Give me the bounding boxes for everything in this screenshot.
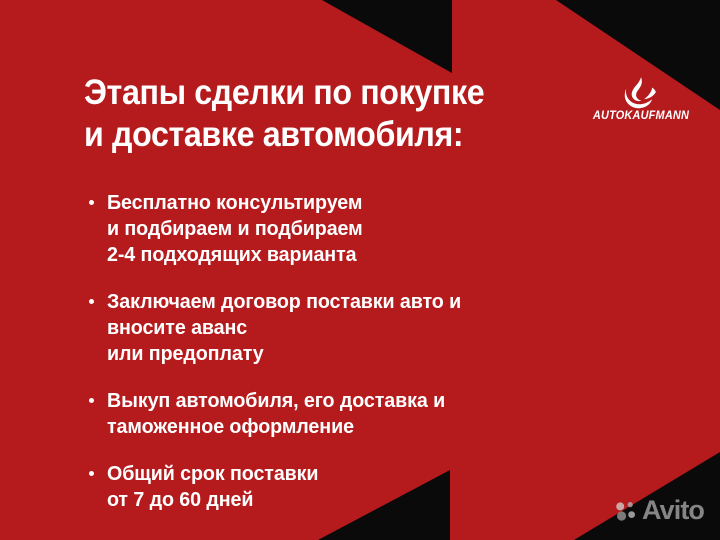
brand-wordmark: AUTOKAUFMANN [587, 110, 695, 122]
avito-dots-icon [615, 501, 637, 521]
list-item: Общий срок поставки от 7 до 60 дней [86, 461, 646, 513]
list-item: Заключаем договор поставки авто и вносит… [86, 289, 646, 367]
list-item-line: вносите аванс [107, 315, 624, 341]
list-item-line: от 7 до 60 дней [107, 487, 624, 513]
avito-wordmark: Avito [642, 497, 704, 524]
banner-image: Этапы сделки по покупке и доставке автом… [0, 0, 720, 540]
bullet-dot-icon [89, 299, 94, 304]
list-item: Выкуп автомобиля, его доставка и таможен… [86, 388, 646, 440]
list-item-line: Выкуп автомобиля, его доставка и [107, 388, 624, 414]
title-line-1: Этапы сделки по покупке [84, 72, 562, 114]
list-item-line: таможенное оформление [107, 414, 624, 440]
bullet-dot-icon [89, 200, 94, 205]
bullet-dot-icon [89, 398, 94, 403]
title-line-2: и доставке автомобиля: [84, 114, 562, 156]
list-item-line: и подбираем и подбираем [107, 216, 624, 242]
list-item-line: Бесплатно консультируем [107, 190, 624, 216]
avito-watermark: Avito [615, 497, 704, 524]
brand-logo: AUTOKAUFMANN [584, 76, 698, 122]
list-item-line: Общий срок поставки [107, 461, 624, 487]
list-item-line: или предоплату [107, 341, 624, 367]
list-item: Бесплатно консультируем и подбираем и по… [86, 190, 646, 268]
benefits-list: Бесплатно консультируем и подбираем и по… [86, 190, 646, 513]
list-item-line: 2-4 подходящих варианта [107, 242, 624, 268]
bullet-dot-icon [89, 471, 94, 476]
list-item-line: Заключаем договор поставки авто и [107, 289, 624, 315]
flame-swoosh-icon [624, 76, 658, 109]
page-title: Этапы сделки по покупке и доставке автом… [84, 72, 604, 156]
